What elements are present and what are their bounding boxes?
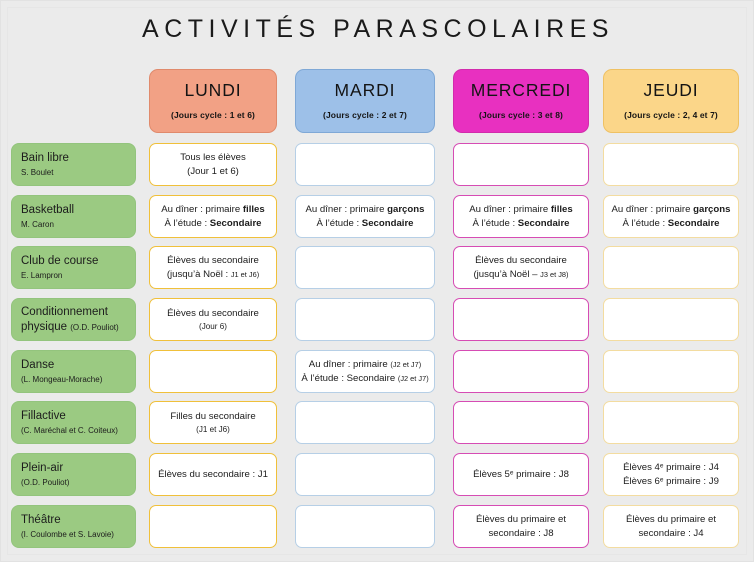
- activity-teacher: M. Caron: [21, 220, 126, 230]
- schedule-cell-line: À l’étude : Secondaire: [472, 217, 569, 231]
- activity-chip-conditionnement-physique: Conditionnement physique (O.D. Pouliot): [11, 298, 136, 341]
- activity-name: Danse: [21, 358, 126, 372]
- day-header-jeudi: JEUDI(Jours cycle : 2, 4 et 7): [603, 69, 739, 133]
- schedule-cell-fillactive-lundi[interactable]: Filles du secondaire(J1 et J6): [149, 401, 277, 444]
- schedule-cell-emphasis: Secondaire: [668, 218, 720, 229]
- schedule-cell-conditionnement-physique-lundi[interactable]: Élèves du secondaire(Jour 6): [149, 298, 277, 341]
- schedule-cell-cycle-note: J1 et J6): [231, 270, 259, 279]
- schedule-cell-theatre-mardi[interactable]: [295, 505, 435, 548]
- activity-name: Basketball: [21, 203, 126, 217]
- schedule-cell-bain-libre-mardi[interactable]: [295, 143, 435, 186]
- activity-chip-fillactive: Fillactive(C. Maréchal et C. Coiteux): [11, 401, 136, 444]
- schedule-cell-plein-air-mardi[interactable]: [295, 453, 435, 496]
- schedule-cell-conditionnement-physique-mardi[interactable]: [295, 298, 435, 341]
- schedule-cell-fillactive-jeudi[interactable]: [603, 401, 739, 444]
- schedule-cell-line: À l’étude : Secondaire: [164, 217, 261, 231]
- schedule-cell-danse-lundi[interactable]: [149, 350, 277, 393]
- schedule-cell-emphasis: garçons: [693, 204, 730, 215]
- schedule-cell-line: Au dîner : primaire garçons: [612, 203, 731, 217]
- schedule-cell-line: Au dîner : primaire filles: [469, 203, 572, 217]
- activity-chip-danse: Danse(L. Mongeau-Morache): [11, 350, 136, 393]
- schedule-cell-club-de-course-mardi[interactable]: [295, 246, 435, 289]
- schedule-cell-line: Filles du secondaire: [170, 410, 255, 424]
- schedule-cell-line: Élèves du secondaire : J1: [158, 468, 268, 482]
- activity-chip-plein-air: Plein-air(O.D. Pouliot): [11, 453, 136, 496]
- schedule-cell-theatre-lundi[interactable]: [149, 505, 277, 548]
- day-header-mardi: MARDI(Jours cycle : 2 et 7): [295, 69, 435, 133]
- schedule-cell-cycle-note: J3 et J8): [540, 270, 568, 279]
- day-header-name: MERCREDI: [471, 81, 572, 100]
- schedule-cell-line: Élèves du secondaire: [475, 254, 567, 268]
- activity-chip-basketball: BasketballM. Caron: [11, 195, 136, 238]
- activity-teacher: (O.D. Pouliot): [70, 323, 118, 332]
- schedule-cell-emphasis: Secondaire: [518, 218, 570, 229]
- schedule-cell-line: (jusqu’à Noël : J1 et J6): [167, 268, 259, 282]
- schedule-cell-basketball-lundi[interactable]: Au dîner : primaire fillesÀ l’étude : Se…: [149, 195, 277, 238]
- activity-teacher: (C. Maréchal et C. Coiteux): [21, 426, 126, 436]
- activity-teacher: S. Boulet: [21, 168, 126, 178]
- schedule-cell-emphasis: filles: [551, 204, 573, 215]
- schedule-cell-theatre-mercredi[interactable]: Élèves du primaire etsecondaire : J8: [453, 505, 589, 548]
- schedule-cell-club-de-course-mercredi[interactable]: Élèves du secondaire(jusqu’à Noël – J3 e…: [453, 246, 589, 289]
- day-header-name: JEUDI: [643, 81, 698, 100]
- activity-chip-club-de-course: Club de courseE. Lampron: [11, 246, 136, 289]
- activity-name: Club de course: [21, 254, 126, 268]
- schedule-cell-conditionnement-physique-jeudi[interactable]: [603, 298, 739, 341]
- schedule-cell-club-de-course-jeudi[interactable]: [603, 246, 739, 289]
- schedule-cell-emphasis: Secondaire: [362, 218, 414, 229]
- schedule-cell-danse-jeudi[interactable]: [603, 350, 739, 393]
- schedule-cell-fillactive-mercredi[interactable]: [453, 401, 589, 444]
- schedule-cell-plein-air-mercredi[interactable]: Élèves 5ᵉ primaire : J8: [453, 453, 589, 496]
- schedule-cell-line: (jusqu’à Noël – J3 et J8): [473, 268, 568, 282]
- schedule-cell-emphasis: Secondaire: [210, 218, 262, 229]
- day-header-mercredi: MERCREDI(Jours cycle : 3 et 8): [453, 69, 589, 133]
- schedule-cell-basketball-mardi[interactable]: Au dîner : primaire garçonsÀ l’étude : S…: [295, 195, 435, 238]
- schedule-cell-basketball-mercredi[interactable]: Au dîner : primaire fillesÀ l’étude : Se…: [453, 195, 589, 238]
- schedule-cell-plein-air-jeudi[interactable]: Élèves 4ᵉ primaire : J4Élèves 6ᵉ primair…: [603, 453, 739, 496]
- schedule-cell-line: Élèves 5ᵉ primaire : J8: [473, 468, 569, 482]
- activity-name: Fillactive: [21, 409, 126, 423]
- schedule-cell-line: Élèves du primaire et: [626, 513, 716, 527]
- schedule-cell-line: Au dîner : primaire filles: [161, 203, 264, 217]
- day-header-cycle: (Jours cycle : 2 et 7): [323, 111, 407, 120]
- schedule-cell-line: (J1 et J6): [196, 424, 230, 435]
- day-header-lundi: LUNDI(Jours cycle : 1 et 6): [149, 69, 277, 133]
- schedule-cell-line: Au dîner : primaire garçons: [306, 203, 425, 217]
- schedule-cell-basketball-jeudi[interactable]: Au dîner : primaire garçonsÀ l’étude : S…: [603, 195, 739, 238]
- schedule-cell-emphasis: filles: [243, 204, 265, 215]
- schedule-cell-club-de-course-lundi[interactable]: Élèves du secondaire(jusqu’à Noël : J1 e…: [149, 246, 277, 289]
- schedule-cell-line: Élèves du primaire et: [476, 513, 566, 527]
- schedule-cell-line: À l’étude : Secondaire: [316, 217, 413, 231]
- activity-teacher: E. Lampron: [21, 271, 126, 281]
- day-header-cycle: (Jours cycle : 2, 4 et 7): [624, 111, 718, 120]
- schedule-cell-line: Au dîner : primaire (J2 et J7): [309, 358, 421, 372]
- schedule-cell-line: À l’étude : Secondaire (J2 et J7): [301, 372, 428, 386]
- schedule-cell-emphasis: garçons: [387, 204, 424, 215]
- schedule-cell-plein-air-lundi[interactable]: Élèves du secondaire : J1: [149, 453, 277, 496]
- day-header-name: MARDI: [335, 81, 396, 100]
- activity-name: Plein-air: [21, 461, 126, 475]
- activity-name: Conditionnement physique (O.D. Pouliot): [21, 305, 126, 333]
- schedule-cell-bain-libre-mercredi[interactable]: [453, 143, 589, 186]
- schedule-cell-line: (Jour 1 et 6): [187, 165, 239, 179]
- schedule-cell-line: Élèves 6ᵉ primaire : J9: [623, 475, 719, 489]
- schedule-cell-cycle-note: (J2 et J7): [390, 360, 421, 369]
- schedule-cell-line: secondaire : J4: [638, 527, 703, 541]
- activity-teacher: (I. Coulombe et S. Lavoie): [21, 530, 126, 540]
- activity-teacher: (O.D. Pouliot): [21, 478, 126, 488]
- schedule-cell-line: Élèves du secondaire: [167, 254, 259, 268]
- schedule-cell-theatre-jeudi[interactable]: Élèves du primaire etsecondaire : J4: [603, 505, 739, 548]
- schedule-cell-line: Élèves du secondaire: [167, 307, 259, 321]
- schedule-cell-line: Élèves 4ᵉ primaire : J4: [623, 461, 719, 475]
- schedule-cell-line: secondaire : J8: [488, 527, 553, 541]
- schedule-cell-danse-mardi[interactable]: Au dîner : primaire (J2 et J7)À l’étude …: [295, 350, 435, 393]
- schedule-cell-line: (Jour 6): [199, 321, 227, 332]
- page-title: ACTIVITÉS PARASCOLAIRES: [1, 15, 754, 44]
- day-header-cycle: (Jours cycle : 3 et 8): [479, 111, 563, 120]
- schedule-cell-danse-mercredi[interactable]: [453, 350, 589, 393]
- day-header-cycle: (Jours cycle : 1 et 6): [171, 111, 255, 120]
- activity-chip-bain-libre: Bain libreS. Boulet: [11, 143, 136, 186]
- activity-chip-theatre: Théâtre(I. Coulombe et S. Lavoie): [11, 505, 136, 548]
- schedule-cell-line: Tous les élèves: [180, 151, 246, 165]
- schedule-cell-bain-libre-lundi[interactable]: Tous les élèves(Jour 1 et 6): [149, 143, 277, 186]
- activity-name: Théâtre: [21, 513, 126, 527]
- poster-root: ACTIVITÉS PARASCOLAIRES LUNDI(Jours cycl…: [0, 0, 754, 562]
- schedule-cell-bain-libre-jeudi[interactable]: [603, 143, 739, 186]
- day-header-name: LUNDI: [184, 81, 241, 100]
- schedule-cell-cycle-note: (J2 et J7): [398, 374, 429, 383]
- schedule-cell-conditionnement-physique-mercredi[interactable]: [453, 298, 589, 341]
- schedule-cell-line: À l’étude : Secondaire: [622, 217, 719, 231]
- activity-name: Bain libre: [21, 151, 126, 165]
- activity-teacher: (L. Mongeau-Morache): [21, 375, 126, 385]
- schedule-cell-fillactive-mardi[interactable]: [295, 401, 435, 444]
